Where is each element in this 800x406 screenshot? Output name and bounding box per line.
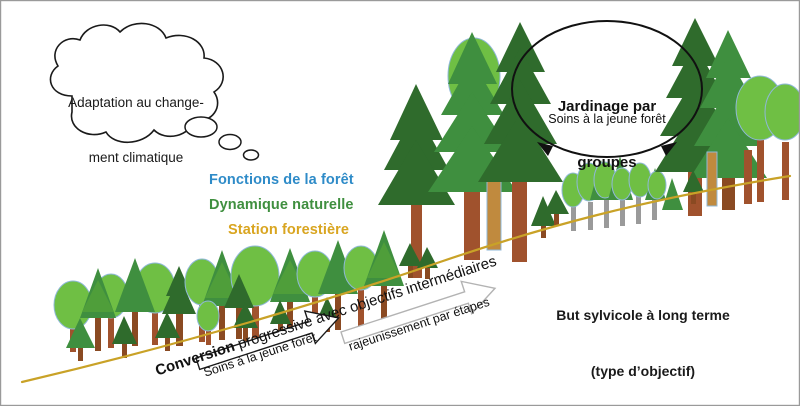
legend-item-fonctions: Fonctions de la forêt bbox=[209, 172, 354, 188]
circle-callout-title-line2: groupes bbox=[527, 154, 687, 173]
thought-bubble-line1: Adaptation au change- bbox=[52, 94, 220, 112]
thought-bubble-line2: ment climatique bbox=[52, 149, 220, 167]
trunk-tan bbox=[707, 152, 717, 206]
circle-callout-title: Jardinage par groupes bbox=[527, 60, 687, 210]
thought-dot bbox=[244, 150, 259, 160]
legend-item-station: Station forestière bbox=[228, 222, 349, 238]
legend-item-dynamique: Dynamique naturelle bbox=[209, 197, 354, 213]
diagram-canvas: Adaptation au change- ment climatique Fo… bbox=[0, 0, 800, 406]
circle-callout-subtitle: Soins à la jeune forêt bbox=[527, 112, 687, 126]
thought-dot bbox=[219, 135, 241, 150]
trunk bbox=[744, 150, 752, 204]
goal-label-line1: But sylvicole à long terme bbox=[527, 306, 759, 325]
goal-label-line2: (type d’objectif) bbox=[527, 362, 759, 381]
broadleaf-crown bbox=[765, 84, 800, 200]
goal-label: But sylvicole à long terme (type d’objec… bbox=[527, 268, 759, 406]
thought-bubble-text: Adaptation au change- ment climatique bbox=[52, 58, 220, 204]
